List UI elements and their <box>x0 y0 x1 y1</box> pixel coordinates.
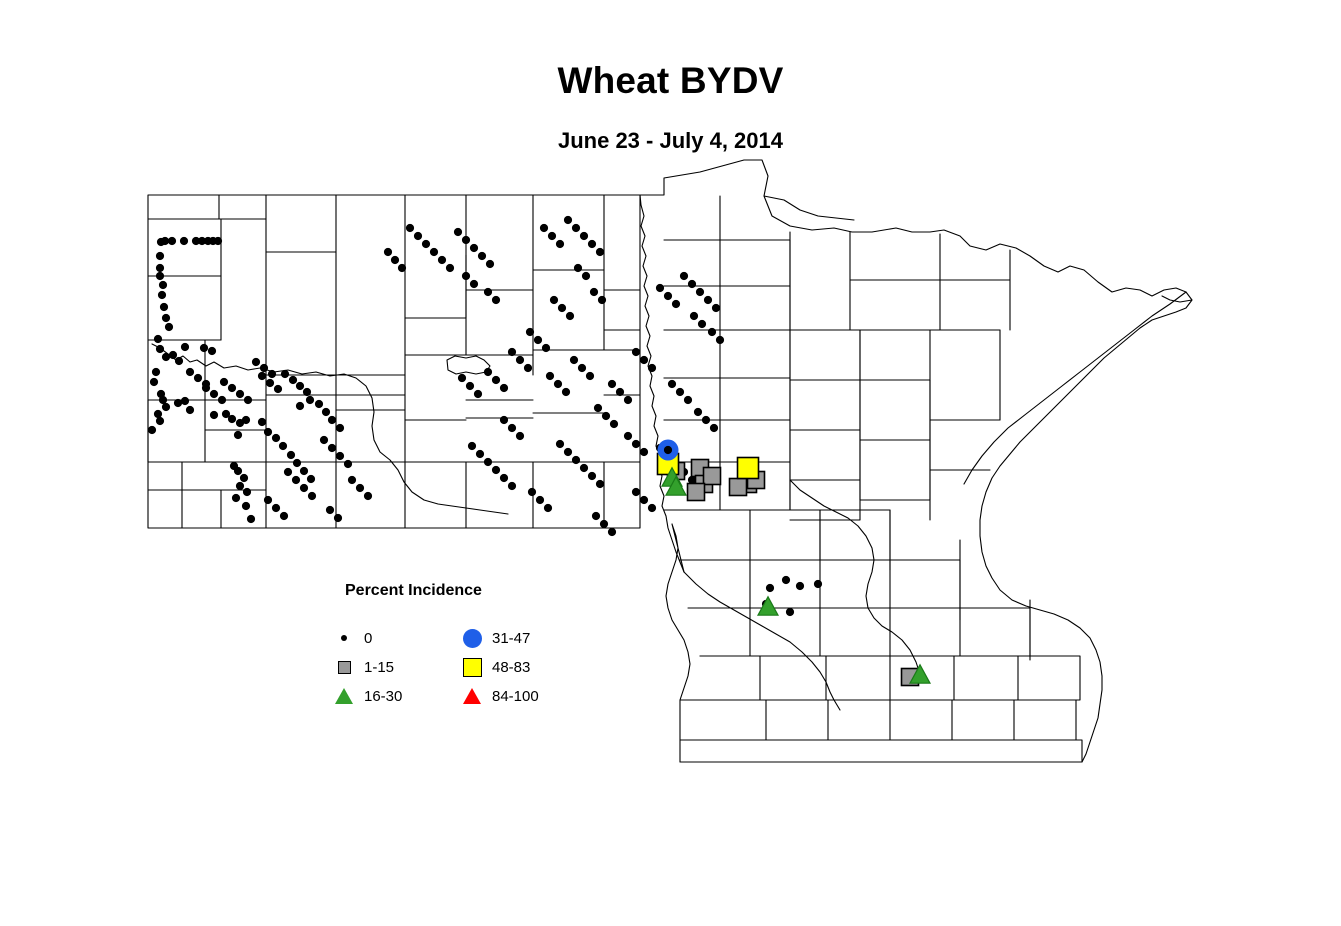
data-points-categorical <box>658 440 931 686</box>
legend-symbol <box>463 658 482 677</box>
legend-symbol <box>335 688 353 704</box>
data-point-zero <box>220 378 228 386</box>
data-point-zero <box>684 396 692 404</box>
data-point-zero <box>624 396 632 404</box>
data-point-zero <box>148 426 156 434</box>
data-point-zero <box>168 237 176 245</box>
data-point-zero <box>438 256 446 264</box>
data-point-zero <box>702 416 710 424</box>
data-point-zero <box>566 312 574 320</box>
data-point-zero <box>244 396 252 404</box>
data-point-zero <box>242 416 250 424</box>
data-point-zero <box>422 240 430 248</box>
data-point-zero <box>414 232 422 240</box>
legend-label: 48-83 <box>492 659 530 676</box>
data-point-zero <box>648 504 656 512</box>
data-point-zero <box>180 237 188 245</box>
data-point-zero <box>544 504 552 512</box>
data-point-zero <box>508 424 516 432</box>
data-point-zero <box>526 328 534 336</box>
data-point-zero <box>247 515 255 523</box>
data-point-zero <box>454 228 462 236</box>
data-point-zero <box>260 364 268 372</box>
data-point-zero <box>648 364 656 372</box>
data-point-zero <box>446 264 454 272</box>
legend-item-1-15[interactable]: 1-15 <box>330 653 394 681</box>
data-point-zero <box>292 476 300 484</box>
data-point-zero <box>680 272 688 280</box>
data-point-zero <box>268 370 276 378</box>
data-point-zero <box>508 348 516 356</box>
data-point-zero <box>580 464 588 472</box>
legend-item-31-47[interactable]: 31-47 <box>458 624 530 652</box>
data-point-zero <box>322 408 330 416</box>
data-point-zero <box>500 416 508 424</box>
data-point-zero <box>712 304 720 312</box>
data-point-zero <box>272 504 280 512</box>
data-point-zero <box>476 450 484 458</box>
data-point-zero <box>154 410 162 418</box>
data-point-zero <box>676 388 684 396</box>
data-point-zero <box>236 390 244 398</box>
data-point-zero <box>698 320 706 328</box>
map-page: Wheat BYDV June 23 - July 4, 2014 <box>0 0 1341 926</box>
data-point-zero <box>640 496 648 504</box>
data-point-zero <box>556 240 564 248</box>
data-point-zero <box>610 420 618 428</box>
data-point-zero <box>328 416 336 424</box>
data-point-zero <box>236 482 244 490</box>
data-point-zero <box>492 466 500 474</box>
legend-item-16-30[interactable]: 16-30 <box>330 682 402 710</box>
data-point-zero <box>608 528 616 536</box>
data-point-zero <box>458 374 466 382</box>
data-point-zero <box>186 368 194 376</box>
data-point-zero <box>272 434 280 442</box>
data-point-zero <box>218 396 226 404</box>
data-point-zero <box>157 238 165 246</box>
data-point-zero <box>588 472 596 480</box>
data-point-zero <box>528 488 536 496</box>
data-point-zero <box>336 424 344 432</box>
data-point-zero <box>307 475 315 483</box>
data-point-zero <box>308 492 316 500</box>
data-point-zero <box>334 514 342 522</box>
data-point-zero <box>600 520 608 528</box>
data-point-zero <box>524 364 532 372</box>
data-point-zero <box>328 444 336 452</box>
data-points-zero <box>148 216 822 616</box>
data-point-zero <box>384 248 392 256</box>
data-point-zero <box>175 357 183 365</box>
data-point-zero <box>320 436 328 444</box>
data-point-zero <box>594 404 602 412</box>
data-point-zero <box>632 440 640 448</box>
data-point-square <box>704 468 721 485</box>
square-icon <box>330 661 358 674</box>
data-point-zero <box>202 380 210 388</box>
data-point-zero <box>462 272 470 280</box>
data-point-zero <box>156 417 164 425</box>
data-point-zero <box>186 406 194 414</box>
data-point-zero <box>694 408 702 416</box>
data-point-zero <box>492 376 500 384</box>
data-point-zero <box>540 224 548 232</box>
data-point-zero <box>546 372 554 380</box>
data-point-zero <box>468 442 476 450</box>
data-point-zero <box>814 580 822 588</box>
data-point-zero <box>574 264 582 272</box>
data-point-zero <box>156 345 164 353</box>
data-point-square <box>688 484 705 501</box>
data-point-zero <box>550 296 558 304</box>
triangle-icon <box>458 688 486 704</box>
data-point-zero <box>252 358 260 366</box>
data-point-zero <box>258 372 266 380</box>
legend-label: 84-100 <box>492 688 539 705</box>
data-point-zero <box>234 431 242 439</box>
data-point-zero <box>484 368 492 376</box>
data-point-zero <box>578 364 586 372</box>
data-point-zero <box>596 480 604 488</box>
data-point-zero <box>364 492 372 500</box>
data-point-zero <box>150 378 158 386</box>
data-point-zero <box>602 412 610 420</box>
legend-item-48-83[interactable]: 48-83 <box>458 653 530 681</box>
data-point-zero <box>572 224 580 232</box>
data-point-zero <box>336 452 344 460</box>
data-point-zero <box>228 384 236 392</box>
data-point-triangle <box>758 597 778 615</box>
data-point-zero <box>274 385 282 393</box>
data-point-zero <box>152 368 160 376</box>
data-point-zero <box>284 468 292 476</box>
legend-label: 0 <box>364 630 372 647</box>
data-point-zero <box>156 252 164 260</box>
data-point-zero <box>632 488 640 496</box>
data-point-zero <box>624 432 632 440</box>
data-point-zero <box>668 380 676 388</box>
data-point-zero <box>181 343 189 351</box>
data-point-zero <box>470 244 478 252</box>
data-point-zero <box>181 397 189 405</box>
legend-symbol <box>338 661 351 674</box>
data-point-zero <box>664 446 672 454</box>
data-point-zero <box>656 284 664 292</box>
data-point-zero <box>169 351 177 359</box>
data-point-zero <box>306 396 314 404</box>
data-point-zero <box>406 224 414 232</box>
data-point-zero <box>242 502 250 510</box>
data-point-zero <box>508 482 516 490</box>
data-point-zero <box>640 448 648 456</box>
data-point-zero <box>300 467 308 475</box>
data-point-square <box>730 479 747 496</box>
data-point-zero <box>356 484 364 492</box>
data-point-zero <box>596 248 604 256</box>
data-point-zero <box>470 280 478 288</box>
data-point-zero <box>500 384 508 392</box>
data-point-zero <box>462 236 470 244</box>
map-canvas <box>0 0 1341 926</box>
data-point-zero <box>159 281 167 289</box>
data-point-zero <box>300 484 308 492</box>
data-point-zero <box>264 496 272 504</box>
data-point-zero <box>210 390 218 398</box>
data-point-zero <box>696 288 704 296</box>
data-point-zero <box>194 374 202 382</box>
legend-item-0[interactable]: 0 <box>330 624 372 652</box>
data-point-zero <box>344 460 352 468</box>
data-point-zero <box>174 399 182 407</box>
data-point-zero <box>486 260 494 268</box>
data-point-zero <box>296 402 304 410</box>
data-point-zero <box>558 304 566 312</box>
data-point-zero <box>548 232 556 240</box>
data-point-zero <box>704 296 712 304</box>
data-point-zero <box>484 458 492 466</box>
data-point-zero <box>562 388 570 396</box>
data-point-zero <box>234 467 242 475</box>
legend-label: 16-30 <box>364 688 402 705</box>
data-point-zero <box>554 380 562 388</box>
data-point-zero <box>632 348 640 356</box>
data-point-zero <box>640 356 648 364</box>
data-point-zero <box>165 323 173 331</box>
legend-symbol <box>463 629 482 648</box>
legend-symbol <box>463 688 481 704</box>
triangle-icon <box>330 688 358 704</box>
data-point-zero <box>786 608 794 616</box>
data-point-zero <box>279 442 287 450</box>
circle-icon <box>458 629 486 648</box>
data-point-zero <box>590 288 598 296</box>
data-point-zero <box>664 292 672 300</box>
data-point-zero <box>516 432 524 440</box>
data-point-zero <box>592 512 600 520</box>
data-point-zero <box>391 256 399 264</box>
legend-item-84-100[interactable]: 84-100 <box>458 682 539 710</box>
data-point-zero <box>796 582 804 590</box>
data-point-zero <box>564 448 572 456</box>
legend-label: 1-15 <box>364 659 394 676</box>
data-point-zero <box>315 400 323 408</box>
data-point-zero <box>162 403 170 411</box>
data-point-zero <box>782 576 790 584</box>
data-point-zero <box>243 488 251 496</box>
data-point-zero <box>348 476 356 484</box>
legend-label: 31-47 <box>492 630 530 647</box>
data-point-zero <box>474 390 482 398</box>
data-point-zero <box>240 474 248 482</box>
data-point-zero <box>586 372 594 380</box>
data-point-zero <box>303 388 311 396</box>
data-point-zero <box>156 264 164 272</box>
data-point-zero <box>280 512 288 520</box>
legend: Percent Incidence 01-1516-3031-4748-8384… <box>330 582 590 712</box>
data-point-zero <box>572 456 580 464</box>
data-point-zero <box>326 506 334 514</box>
data-point-zero <box>484 288 492 296</box>
data-point-zero <box>608 380 616 388</box>
data-point-zero <box>296 382 304 390</box>
data-point-zero <box>210 411 218 419</box>
data-point-zero <box>287 451 295 459</box>
data-point-zero <box>293 459 301 467</box>
data-point-zero <box>258 418 266 426</box>
data-point-zero <box>281 370 289 378</box>
square-icon <box>458 658 486 677</box>
data-point-zero <box>208 347 216 355</box>
data-point-zero <box>766 584 774 592</box>
data-point-zero <box>162 353 170 361</box>
data-point-zero <box>616 388 624 396</box>
data-point-zero <box>478 252 486 260</box>
data-point-zero <box>228 415 236 423</box>
data-point-zero <box>154 335 162 343</box>
legend-symbol <box>341 635 347 641</box>
data-point-zero <box>266 379 274 387</box>
legend-title: Percent Incidence <box>345 582 482 600</box>
data-point-zero <box>672 300 680 308</box>
data-point-zero <box>710 424 718 432</box>
data-point-zero <box>598 296 606 304</box>
data-point-zero <box>398 264 406 272</box>
data-point-zero <box>690 312 698 320</box>
data-point-zero <box>708 328 716 336</box>
data-point-zero <box>232 494 240 502</box>
data-point-zero <box>156 272 164 280</box>
data-point-zero <box>556 440 564 448</box>
dot-icon <box>330 635 358 641</box>
data-point-zero <box>564 216 572 224</box>
data-point-zero <box>160 303 168 311</box>
data-point-zero <box>289 376 297 384</box>
data-point-zero <box>688 280 696 288</box>
data-point-zero <box>580 232 588 240</box>
data-point-zero <box>466 382 474 390</box>
data-point-zero <box>158 291 166 299</box>
data-point-zero <box>214 237 222 245</box>
data-point-zero <box>542 344 550 352</box>
data-point-zero <box>570 356 578 364</box>
data-point-zero <box>582 272 590 280</box>
data-point-zero <box>159 396 167 404</box>
data-point-zero <box>200 344 208 352</box>
data-point-zero <box>162 314 170 322</box>
data-point-zero <box>536 496 544 504</box>
data-point-square <box>738 458 759 479</box>
data-point-zero <box>516 356 524 364</box>
data-point-zero <box>492 296 500 304</box>
data-point-zero <box>716 336 724 344</box>
data-point-zero <box>534 336 542 344</box>
data-point-zero <box>588 240 596 248</box>
data-point-zero <box>264 428 272 436</box>
data-point-zero <box>430 248 438 256</box>
data-point-zero <box>500 474 508 482</box>
